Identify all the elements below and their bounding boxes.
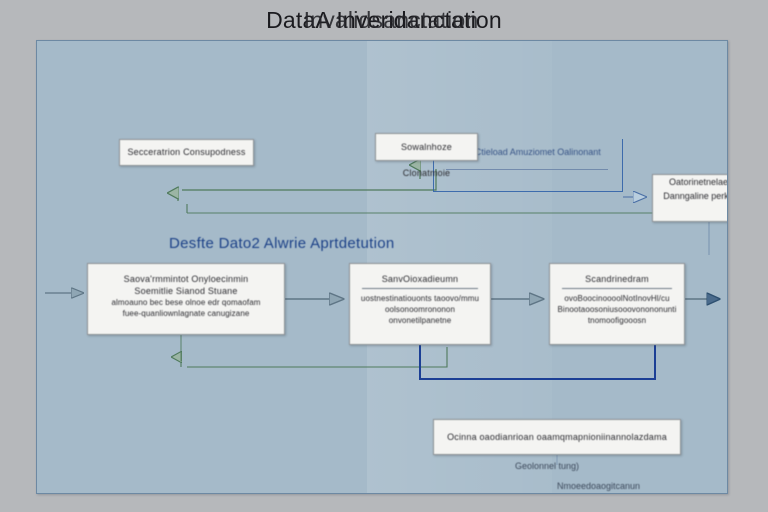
stage-three-line-3: tnomoofigooosn [550,315,684,326]
page-title-overlay: Invalidsanctation [304,2,479,38]
edge-feedback-lower [187,204,727,213]
output-line-2: Danngaline perkences [653,189,728,203]
stage-three-rule [562,288,672,289]
stage-one-line-2: Soemitlie Sianod Stuane [88,285,284,297]
stage-two-line-3: onvonetilpanetne [350,315,490,326]
stage-two-line-2: oolsonoomrononon [350,304,490,315]
flow-label: Desfte Dato2 Alwrie Aprtdetution [169,235,395,252]
caption-line-2: Nmoeedoaogitcanun [557,481,640,491]
stage-one-line-3: almoauno bec bese olnoe edr qomaofam [88,297,284,308]
database-component-title: Sowalnhoze Clonatmoie [376,134,477,186]
stage-three-line-1: ovoBoocinoooolNotInovHl/cu [550,293,684,304]
security-component-title: Secceratrion Consupodness [120,140,253,165]
diagram-canvas: malv/Ctieload Amuziomet Oalinonant Secce… [36,40,728,494]
database-component-node[interactable]: Sowalnhoze Clonatmoie [375,133,478,161]
stage-two-line-1: uostnestinatiouonts taoovo/mmu [350,293,490,304]
stage-two-node[interactable]: SanvOioxadieumn uostnestinatiouonts taoo… [349,263,491,345]
stage-one-line-1: Saova'rmmintot Onyloecinmin [88,273,284,285]
caption-line-1: Geolonnel tung) [515,461,579,471]
stage-three-title: Scandrinedram [550,273,684,285]
output-line-1: Oatorinetnelaelwart [653,175,728,189]
bottom-summary-node[interactable]: Ocinna oaodianrioan oaamqmapnioniinannol… [433,419,681,455]
stage-one-line-4: fuee-quanliownlagnate canugizane [88,308,284,319]
edge-blue-loop [420,345,655,379]
stage-one-node[interactable]: Saova'rmmintot Onyloecinmin Soemitlie Si… [87,263,285,335]
bottom-summary-title: Ocinna oaodianrioan oaamqmapnioniinannol… [434,420,680,454]
security-component-node[interactable]: Secceratrion Consupodness [119,139,254,166]
output-sample-node[interactable]: Oatorinetnelaelwart Danngaline perkences [652,174,728,222]
stage-two-title: SanvOioxadieumn [350,273,490,285]
stage-two-rule [362,288,478,289]
page-title: DataA Inveridanctation Invalidsanctation [0,2,768,38]
stage-three-line-2: Binootaoosoniusooovonononunti [550,304,684,315]
stage-three-node[interactable]: Scandrinedram ovoBoocinoooolNotInovHl/cu… [549,263,685,345]
